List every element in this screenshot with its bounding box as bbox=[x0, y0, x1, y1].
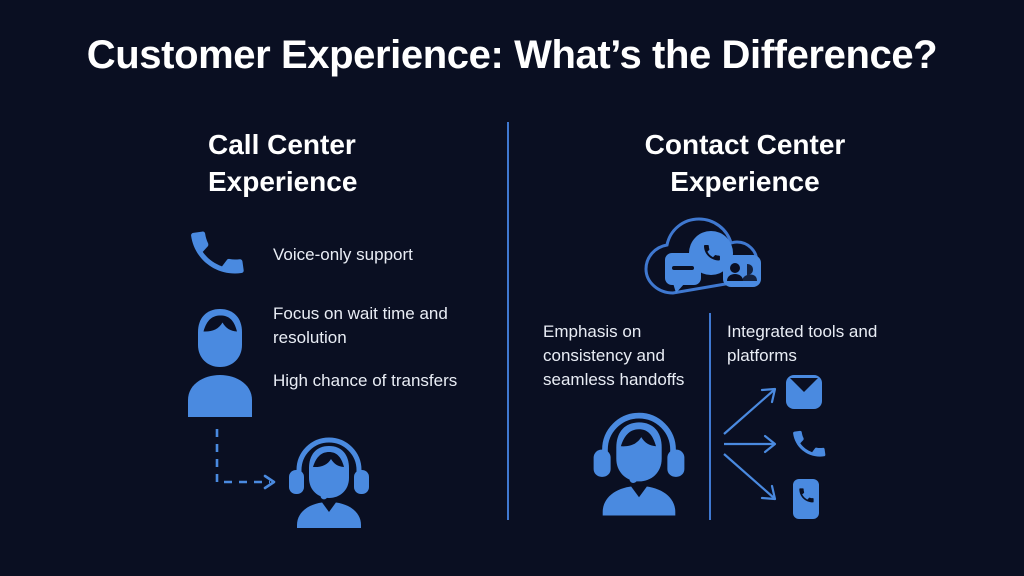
arrow-down-right-icon bbox=[724, 454, 775, 499]
right-column-heading-line2: Experience bbox=[575, 163, 915, 200]
headset-agent-icon bbox=[277, 432, 381, 533]
right-column-heading: Contact Center Experience bbox=[575, 126, 915, 200]
phone-handset-icon bbox=[186, 222, 248, 289]
right-item-text-1: Emphasis on consistency and seamless han… bbox=[543, 320, 713, 392]
dashed-arrow-icon bbox=[212, 427, 284, 500]
mobile-phone-icon bbox=[791, 477, 821, 526]
contact-card-icon bbox=[723, 255, 761, 287]
left-column-heading-line1: Call Center bbox=[208, 126, 508, 163]
left-item-text-2: Focus on wait time and resolution bbox=[273, 302, 488, 350]
channel-arrows bbox=[722, 382, 784, 513]
right-column-heading-line1: Contact Center bbox=[575, 126, 915, 163]
envelope-icon bbox=[784, 372, 824, 417]
left-column-heading: Call Center Experience bbox=[208, 126, 508, 200]
cloud-icon bbox=[637, 213, 785, 308]
person-icon bbox=[180, 305, 260, 422]
left-item-text-1: Voice-only support bbox=[273, 243, 483, 267]
page-title: Customer Experience: What’s the Differen… bbox=[0, 33, 1024, 78]
arrow-up-right-icon bbox=[724, 389, 775, 434]
phone-handset-icon bbox=[790, 425, 828, 468]
right-item-text-2: Integrated tools and platforms bbox=[727, 320, 902, 368]
left-column-heading-line2: Experience bbox=[208, 163, 508, 200]
headset-agent-icon bbox=[580, 405, 698, 522]
slide-canvas: Customer Experience: What’s the Differen… bbox=[0, 0, 1024, 576]
arrow-right-icon bbox=[724, 436, 775, 452]
left-item-text-3: High chance of transfers bbox=[273, 369, 463, 393]
